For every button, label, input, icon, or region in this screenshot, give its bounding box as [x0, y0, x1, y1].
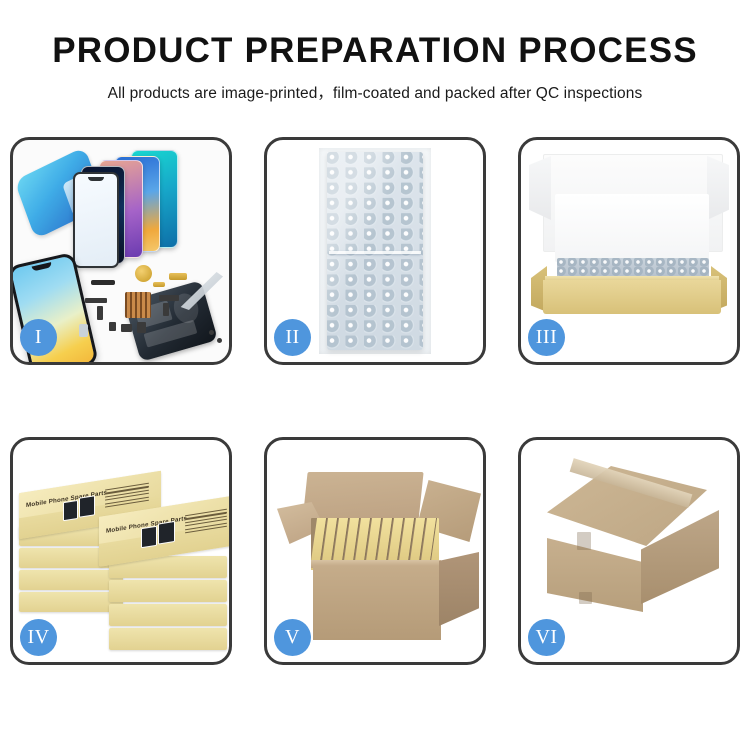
box-screen-image-b2: [158, 521, 175, 545]
box-screen-image-b1: [141, 526, 157, 549]
box-flap-left: [529, 156, 551, 220]
part-button-a: [109, 322, 116, 331]
wrap-seam: [329, 251, 421, 254]
page-header: PRODUCT PREPARATION PROCESS All products…: [0, 0, 750, 103]
step-badge-3: III: [528, 319, 565, 356]
part-speaker-box: [137, 322, 146, 333]
step-badge-2: II: [274, 319, 311, 356]
part-connector-c: [159, 295, 179, 301]
part-screw-b: [217, 338, 222, 343]
step-panel-5[interactable]: V: [264, 437, 486, 665]
stacked-box-r4: [109, 628, 227, 650]
part-vibration-motor: [135, 265, 152, 282]
carton-tab-upper: [577, 532, 591, 550]
stacked-box-l4: [19, 592, 123, 612]
part-flex-cable-b: [153, 282, 165, 287]
carton-tab-lower: [579, 592, 592, 604]
part-sim-tray: [79, 324, 88, 337]
box-front-panel: [543, 280, 721, 314]
step-panel-1[interactable]: I: [10, 137, 232, 365]
part-speaker-mesh: [91, 280, 115, 285]
page-subtitle: All products are image-printed，film-coat…: [0, 81, 750, 103]
foam-liner: [555, 194, 709, 262]
part-flex-cable-a: [169, 273, 187, 280]
carton-side-right: [439, 552, 479, 626]
step-badge-5: V: [274, 619, 311, 656]
carton-flap-back: [302, 472, 423, 522]
part-chip-array: [125, 292, 151, 318]
stacked-box-r2: [109, 580, 227, 602]
step-badge-1: I: [20, 319, 57, 356]
box-flap-right: [707, 156, 729, 220]
box-screen-image-a1: [63, 500, 78, 521]
step-badge-4: IV: [20, 619, 57, 656]
part-screw-a: [209, 330, 214, 335]
stacked-box-l3: [19, 570, 123, 590]
step-panel-2[interactable]: II: [264, 137, 486, 365]
part-connector-b: [97, 306, 103, 320]
part-connector-d: [163, 303, 169, 316]
step-panel-3[interactable]: III: [518, 137, 740, 365]
page-title: PRODUCT PREPARATION PROCESS: [0, 33, 750, 70]
part-button-b: [121, 324, 132, 332]
carton-front-panel: [313, 566, 441, 640]
stacked-box-r3: [109, 604, 227, 626]
step-panel-4[interactable]: Mobile Phone Spare Parts Mobile Phone Sp…: [10, 437, 232, 665]
box-screen-image-a2: [79, 495, 95, 518]
part-connector-a: [85, 298, 107, 303]
step-panel-6[interactable]: VI: [518, 437, 740, 665]
process-steps-grid: I II III: [10, 137, 740, 665]
step-badge-6: VI: [528, 619, 565, 656]
